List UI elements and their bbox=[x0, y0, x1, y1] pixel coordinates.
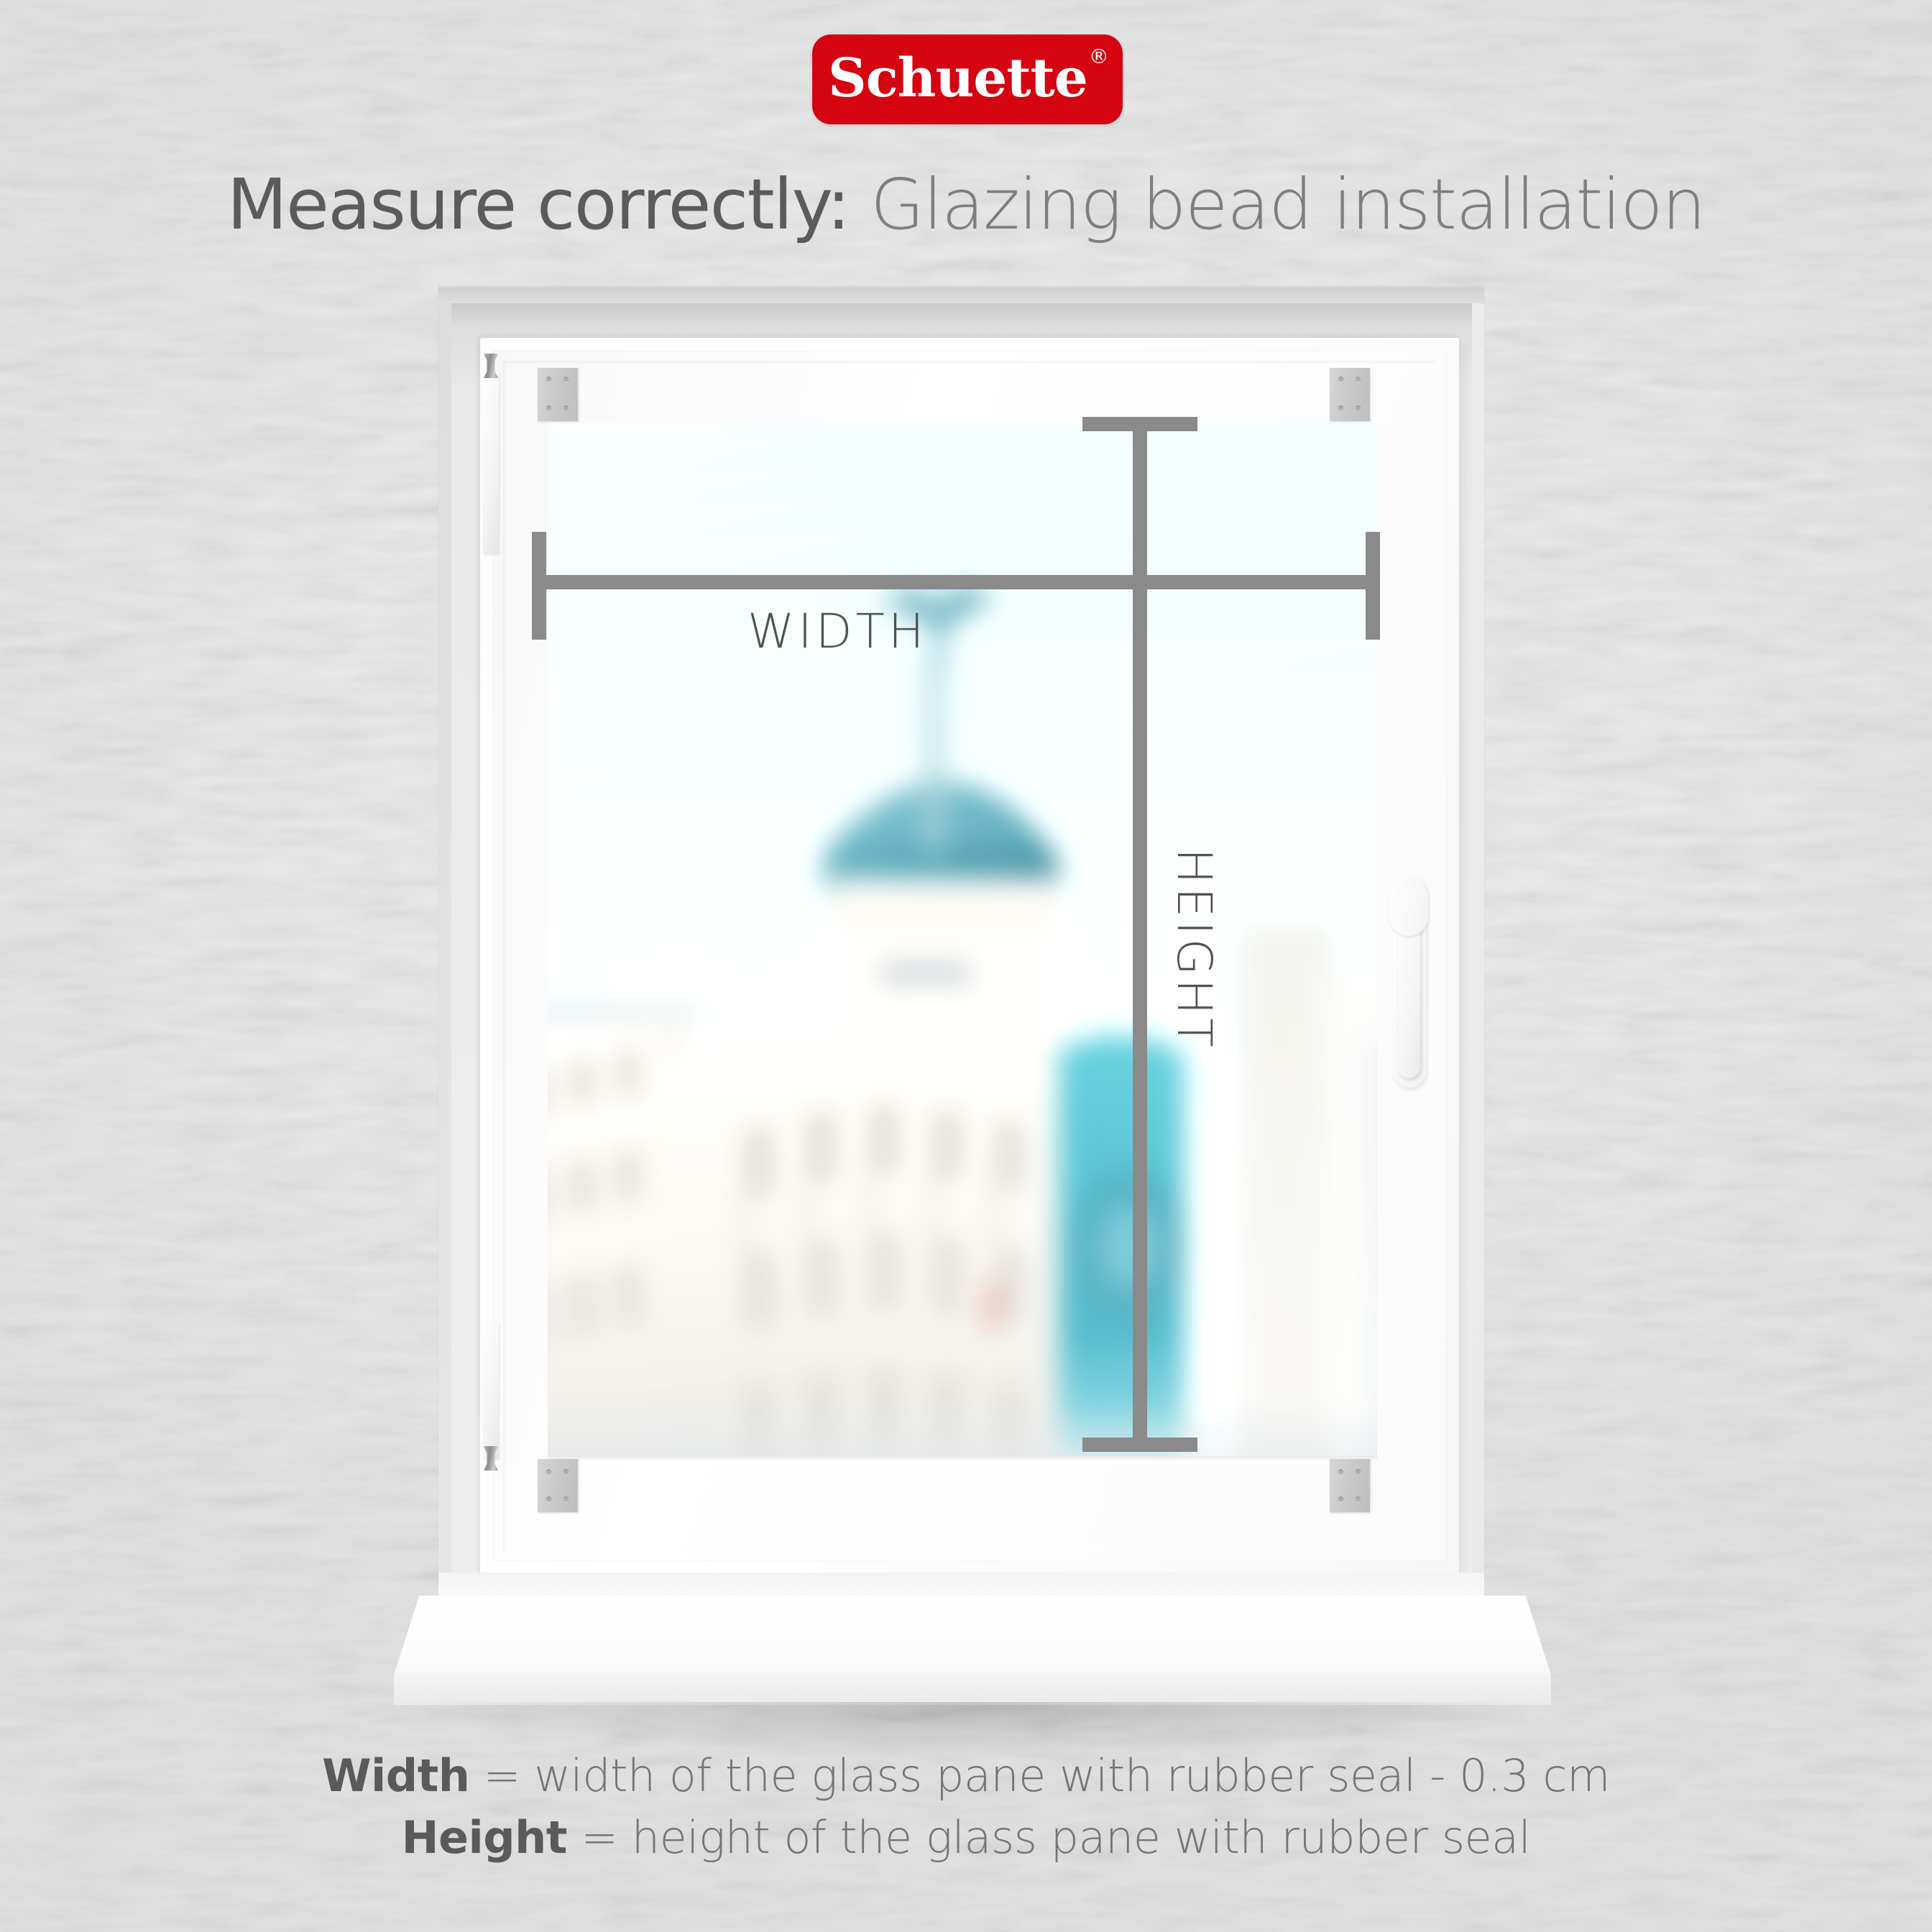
legend-row-width: Width = width of the glass pane with rub… bbox=[0, 1745, 1932, 1807]
legend-value-height: = height of the glass pane with rubber s… bbox=[567, 1811, 1530, 1864]
height-label: HEIGHT bbox=[1167, 848, 1222, 1051]
height-dimension-line bbox=[1133, 417, 1147, 1452]
width-dimension-end-cap-right bbox=[1366, 532, 1380, 640]
width-dimension-end-cap-left bbox=[532, 532, 546, 640]
width-label: WIDTH bbox=[747, 604, 928, 659]
height-dimension-end-cap-bottom bbox=[1082, 1437, 1197, 1452]
measurement-legend: Width = width of the glass pane with rub… bbox=[0, 1745, 1932, 1868]
height-dimension-end-cap-top bbox=[1082, 417, 1197, 431]
width-dimension-line bbox=[532, 575, 1380, 589]
legend-row-height: Height = height of the glass pane with r… bbox=[0, 1807, 1932, 1869]
legend-key-height: Height bbox=[402, 1811, 567, 1864]
legend-key-width: Width bbox=[322, 1749, 469, 1802]
measurement-overlay: WIDTH HEIGHT bbox=[0, 0, 1932, 1932]
legend-value-width: = width of the glass pane with rubber se… bbox=[469, 1749, 1609, 1802]
